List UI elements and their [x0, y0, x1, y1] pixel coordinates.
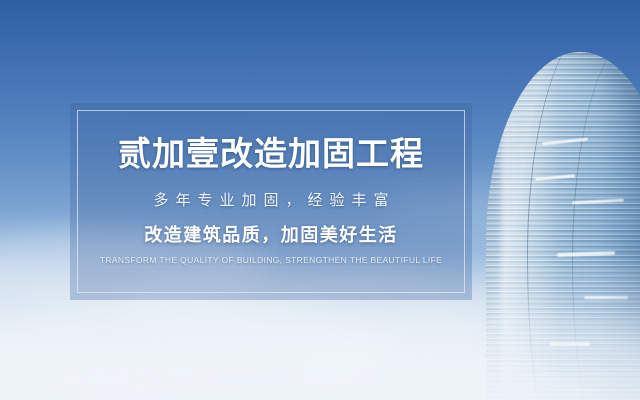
hero-banner: 贰加壹改造加固工程 多年专业加固，经验丰富 改造建筑品质，加固美好生活 TRAN…	[0, 0, 640, 400]
image-grain-overlay	[0, 0, 640, 400]
